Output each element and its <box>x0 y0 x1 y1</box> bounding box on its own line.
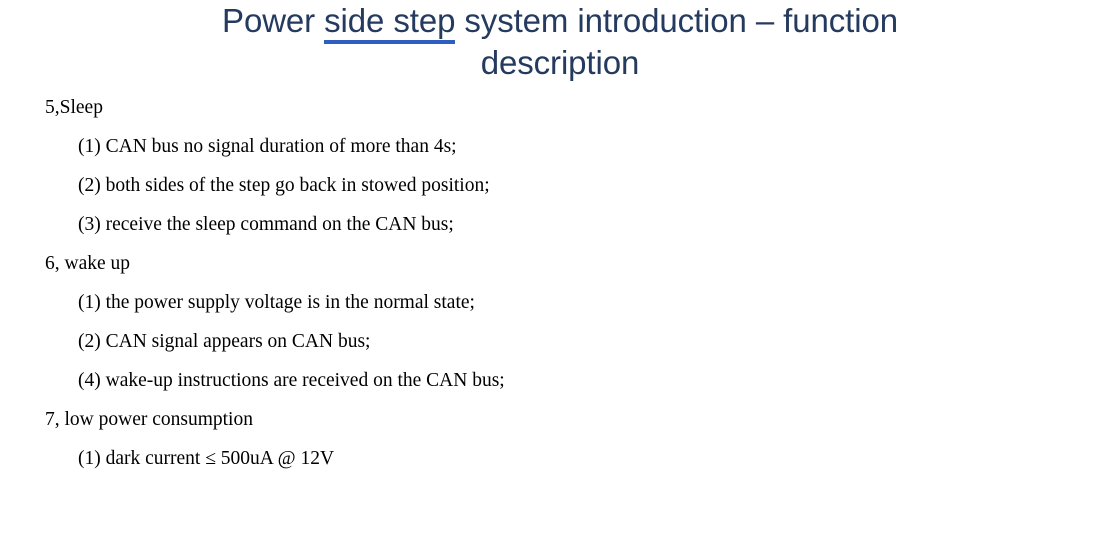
section-heading: 7, low power consumption <box>0 400 1117 439</box>
list-item: (4) wake-up instructions are received on… <box>0 361 1117 400</box>
slide-canvas: Power side step system introduction – fu… <box>0 0 1117 540</box>
section-heading: 6, wake up <box>0 244 1117 283</box>
section-heading: 5,Sleep <box>0 88 1117 127</box>
list-item: (2) both sides of the step go back in st… <box>0 166 1117 205</box>
list-item: (1) the power supply voltage is in the n… <box>0 283 1117 322</box>
title-text-after: system introduction – function descripti… <box>455 2 898 81</box>
title-underlined-term: side step <box>324 0 455 42</box>
list-item: (2) CAN signal appears on CAN bus; <box>0 322 1117 361</box>
slide-title: Power side step system introduction – fu… <box>140 0 980 84</box>
list-item: (3) receive the sleep command on the CAN… <box>0 205 1117 244</box>
slide-body: 5,Sleep (1) CAN bus no signal duration o… <box>0 88 1117 478</box>
title-text-before: Power <box>222 2 324 39</box>
list-item: (1) CAN bus no signal duration of more t… <box>0 127 1117 166</box>
list-item: (1) dark current ≤ 500uA @ 12V <box>0 439 1117 478</box>
